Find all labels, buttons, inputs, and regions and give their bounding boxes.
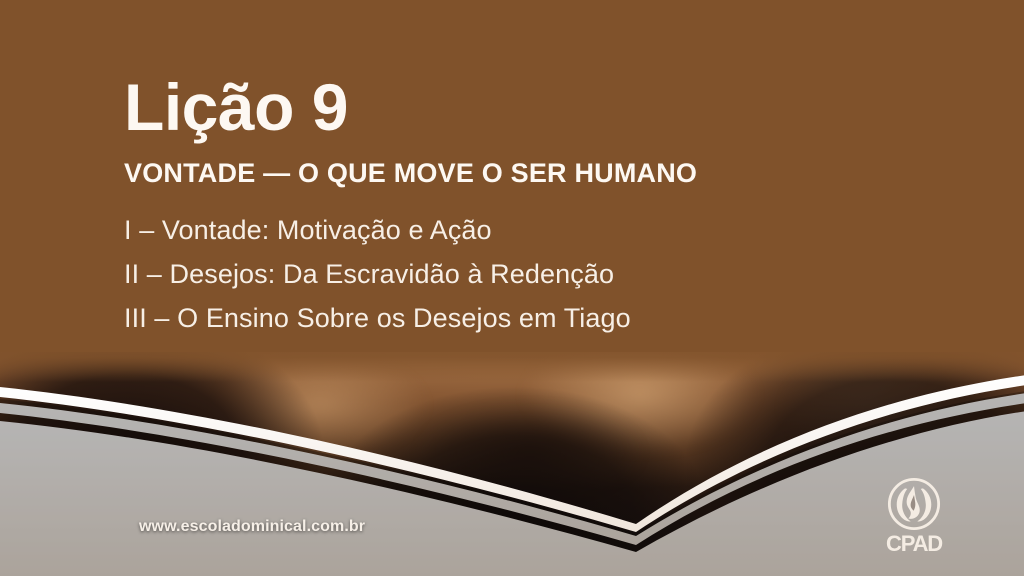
- list-item: I – Vontade: Motivação e Ação: [124, 208, 984, 252]
- lesson-subtitle: VONTADE — O QUE MOVE O SER HUMANO: [124, 157, 984, 189]
- page-title: Lição 9: [124, 74, 984, 141]
- site-url[interactable]: www.escoladominical.com.br: [139, 518, 365, 536]
- presentation-slide: Lição 9 VONTADE — O QUE MOVE O SER HUMAN…: [0, 0, 1024, 576]
- lesson-outline-list: I – Vontade: Motivação e Ação II – Desej…: [124, 208, 984, 340]
- cpad-flame-circle-icon: [886, 476, 942, 532]
- brand-panel-fade: [0, 340, 1024, 382]
- cpad-logo: CPAD: [866, 476, 962, 562]
- list-item: III – O Ensino Sobre os Desejos em Tiago: [124, 296, 984, 340]
- list-item: II – Desejos: Da Escravidão à Redenção: [124, 252, 984, 296]
- slide-content: Lição 9 VONTADE — O QUE MOVE O SER HUMAN…: [124, 74, 984, 340]
- cpad-wordmark: CPAD: [886, 533, 942, 555]
